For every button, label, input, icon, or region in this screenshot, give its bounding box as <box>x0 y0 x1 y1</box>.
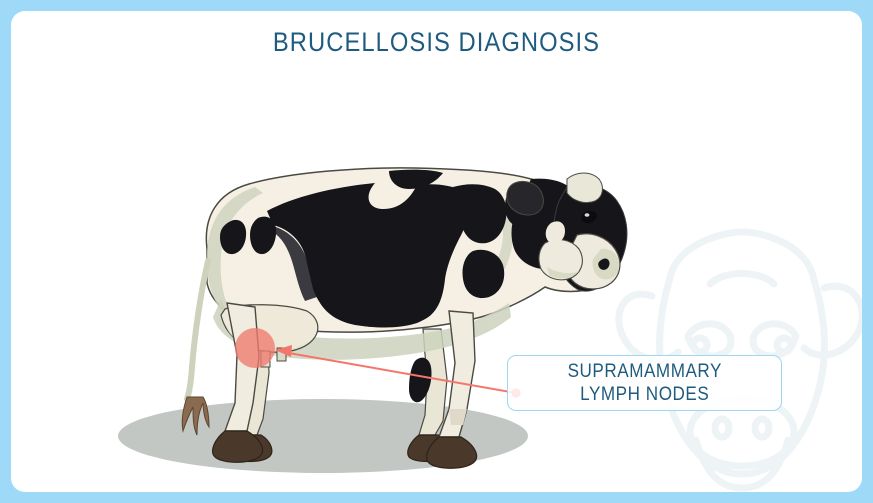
supramammary-lymph-node-marker <box>235 328 275 368</box>
infographic-page: BRUCELLOSIS DIAGNOSIS <box>0 0 873 503</box>
callout-supramammary-lymph-nodes[interactable]: SUPRAMAMMARY LYMPH NODES <box>507 355 782 411</box>
cow-illustration <box>11 11 862 492</box>
infographic-canvas: BRUCELLOSIS DIAGNOSIS <box>11 11 862 492</box>
callout-line-2: LYMPH NODES <box>580 383 709 406</box>
tail <box>182 261 209 435</box>
callout-line-1: SUPRAMAMMARY <box>567 360 721 383</box>
